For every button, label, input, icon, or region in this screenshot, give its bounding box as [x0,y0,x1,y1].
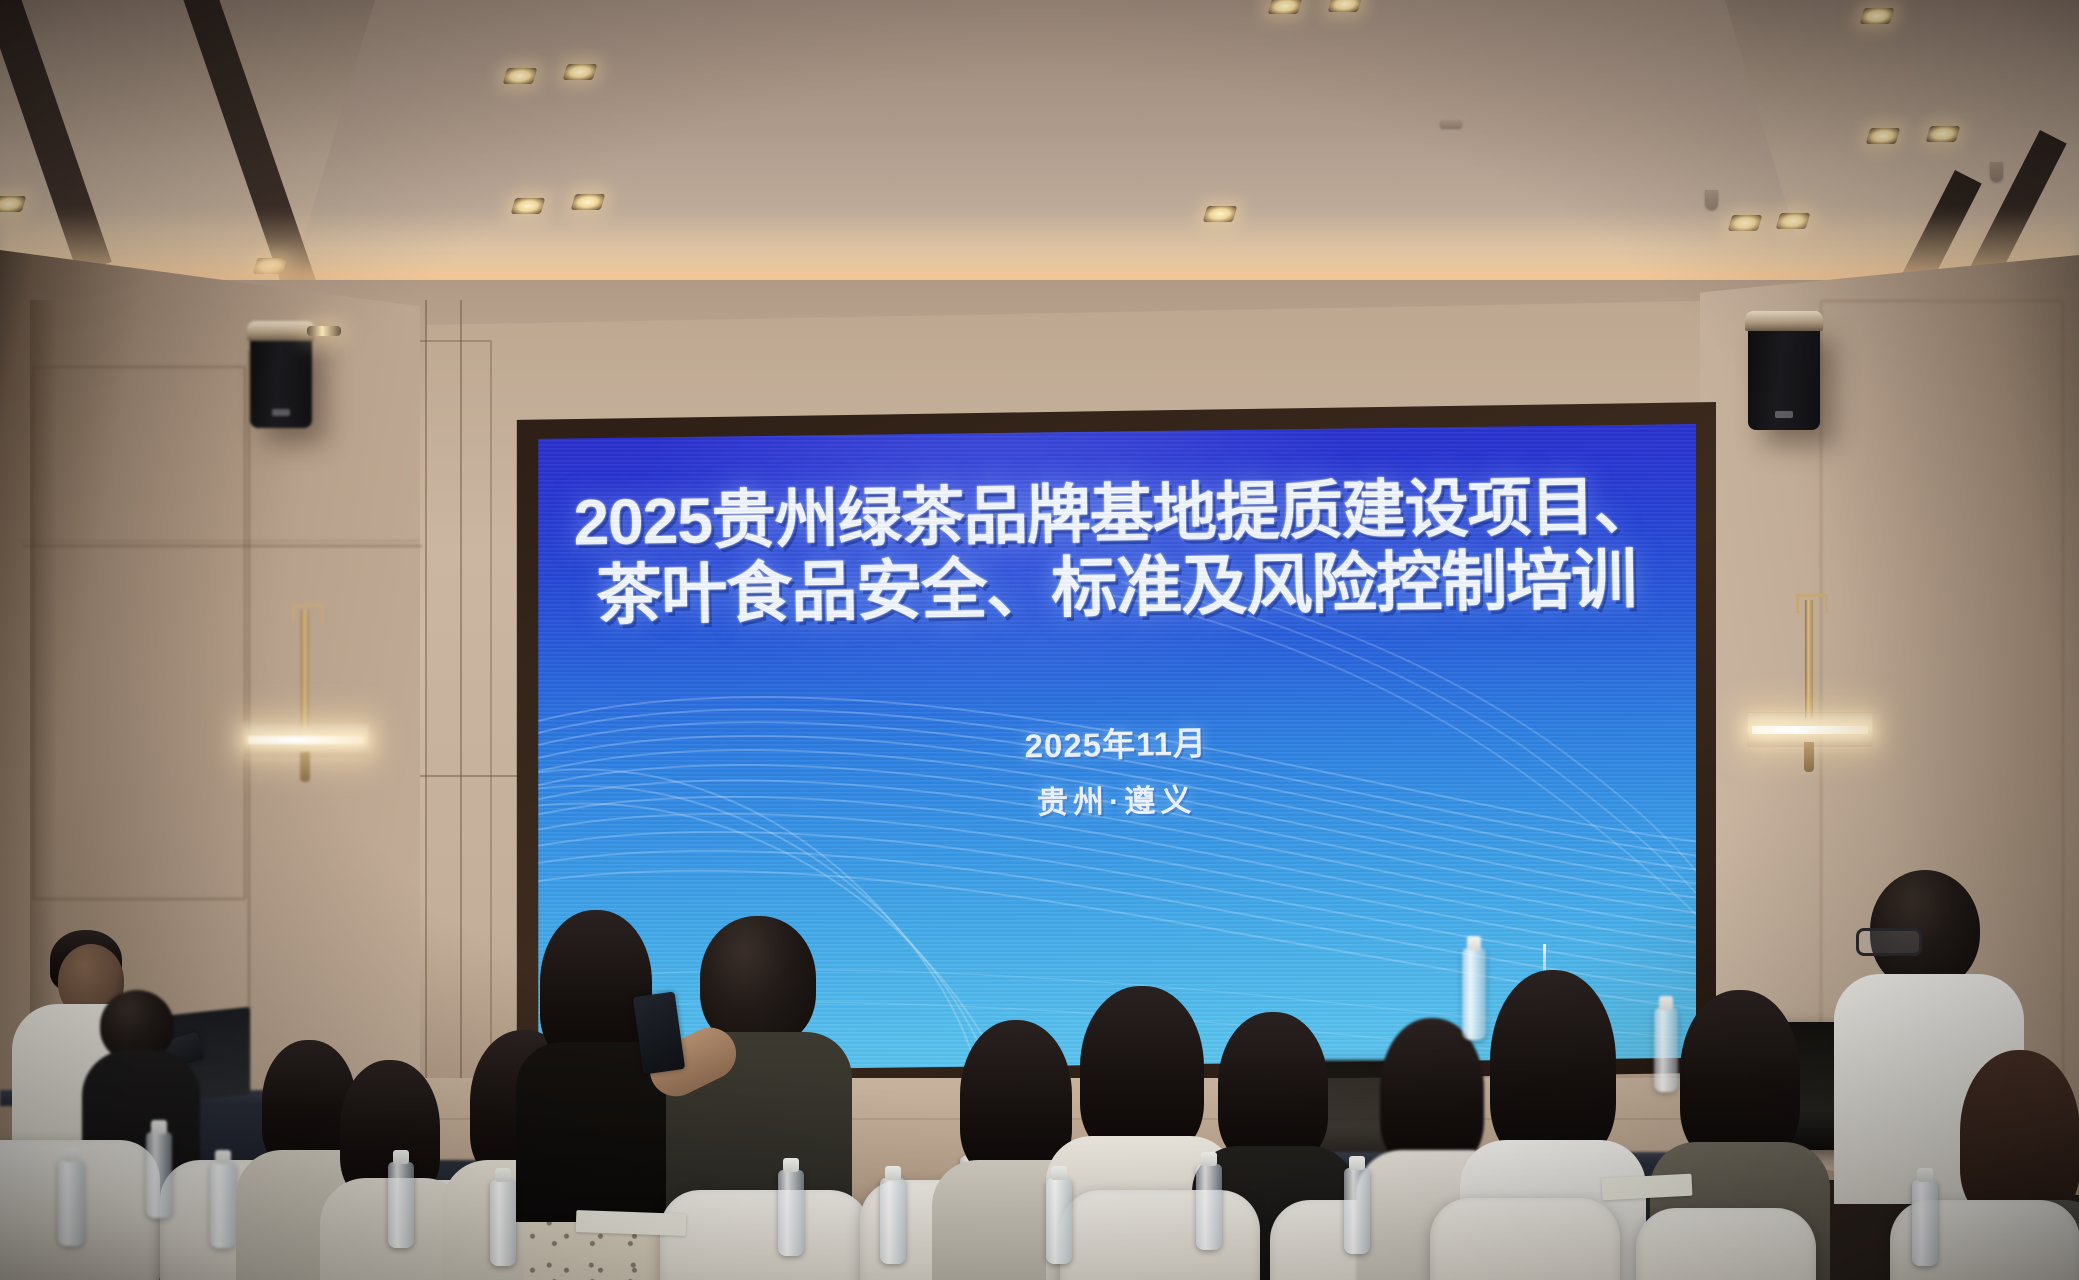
attendee-hair [1380,1018,1484,1166]
wall-panel-reveal [20,540,420,542]
speaker-top-cap [247,321,315,341]
left-wall-speaker [250,332,312,428]
audience-area [0,760,2079,1280]
attendee-hair [1490,970,1616,1160]
sprinkler-icon [1440,120,1462,128]
downlight-icon [1328,0,1363,12]
sconce-stem [1805,600,1813,718]
water-bottle [210,1162,236,1248]
speaker-logo [1775,411,1793,418]
screen-title: 2025贵州绿茶品牌基地提质建设项目、 茶叶食品安全、标准及风险控制培训 [573,474,1658,631]
downlight-icon [1866,128,1901,144]
speaker-logo [272,409,290,416]
attendee-hair [1080,986,1204,1154]
downlight-icon [571,194,606,210]
right-wall-speaker [1748,322,1820,430]
downlight-icon [1860,8,1895,24]
water-bottle [880,1178,906,1264]
attendee-hair [1218,1012,1328,1162]
sprinkler-icon [1990,162,2003,182]
sconce-stem [301,610,309,728]
chair [1430,1198,1620,1280]
attendee-hair [540,910,652,1060]
handout-paper [576,1210,687,1236]
downlight-icon [503,68,538,84]
chair [1060,1190,1260,1280]
downlight-icon [563,64,598,80]
water-bottle [1046,1178,1072,1264]
water-bottle [1196,1164,1222,1250]
water-bottle [58,1160,84,1246]
attendee-hair [1960,1050,2079,1220]
downlight-icon [1926,126,1961,142]
attendee-hair [1680,990,1800,1160]
title-line-2: 茶叶食品安全、标准及风险控制培训 [574,545,1658,630]
sprinkler-icon [1705,190,1718,210]
photographer-head [700,916,816,1046]
right-wall-sconce [1744,600,1874,780]
wall-panel-reveal [22,545,422,547]
chair [1636,1208,1816,1280]
downlight-icon [1268,0,1303,14]
water-bottle [1912,1180,1938,1266]
eyeglasses-icon [1856,928,1922,956]
water-bottle [1462,948,1486,1040]
water-bottle [1654,1008,1678,1092]
handout-paper [1601,1174,1692,1201]
water-bottle [490,1180,516,1266]
speaker-top-cap [1745,311,1823,331]
conference-room-photo: 2025贵州绿茶品牌基地提质建设项目、 茶叶食品安全、标准及风险控制培训 202… [0,0,2079,1280]
water-bottle [146,1132,172,1218]
accent-downlight-icon [307,326,341,336]
water-bottle [1344,1168,1370,1254]
water-bottle [388,1162,414,1248]
chair [660,1190,870,1280]
water-bottle [778,1170,804,1256]
